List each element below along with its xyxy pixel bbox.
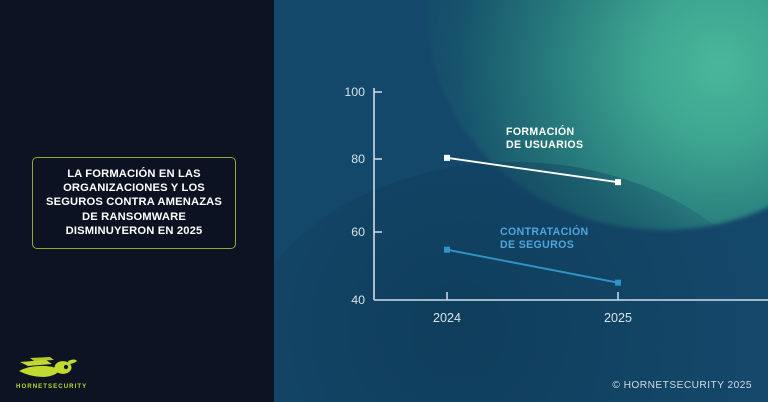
headline-callout-box: LA FORMACIÓN EN LAS ORGANIZACIONES Y LOS…	[32, 157, 236, 249]
copyright-notice: © HORNETSECURITY 2025	[612, 380, 752, 391]
y-axis-label-40: 40	[351, 293, 365, 307]
legend-label-contratacion-line1: CONTRATACIÓN	[500, 226, 589, 239]
infographic-canvas: LA FORMACIÓN EN LAS ORGANIZACIONES Y LOS…	[0, 0, 768, 402]
chart-svg: 100 80 60 40 2024 2025	[274, 0, 768, 402]
legend-label-contratacion: CONTRATACIÓN DE SEGUROS	[500, 226, 589, 252]
x-axis-label-2025: 2025	[604, 311, 632, 325]
series-contratacion-point-2024	[444, 247, 450, 253]
series-formacion-point-2024	[444, 155, 450, 161]
legend-label-formacion-line1: FORMACIÓN	[506, 126, 583, 139]
page-title: LA FORMACIÓN EN LAS ORGANIZACIONES Y LOS…	[41, 167, 227, 238]
legend-label-contratacion-line2: DE SEGUROS	[500, 239, 589, 252]
series-formacion-de-usuarios	[444, 155, 621, 185]
brand-wordmark: HORNETSECURITY	[16, 383, 96, 390]
brand-logo: HORNETSECURITY	[16, 355, 96, 390]
series-formacion-line	[447, 158, 618, 182]
series-contratacion-point-2025	[615, 280, 621, 286]
series-contratacion-de-seguros	[444, 247, 621, 286]
y-axis-label-100: 100	[344, 85, 365, 99]
y-axis-label-80: 80	[351, 152, 365, 166]
line-chart: 100 80 60 40 2024 2025	[274, 0, 768, 402]
chart-axes	[374, 88, 768, 300]
legend-label-formacion: FORMACIÓN DE USUARIOS	[506, 126, 583, 152]
y-axis-label-60: 60	[351, 225, 365, 239]
x-axis-label-2024: 2024	[433, 311, 461, 325]
series-formacion-point-2025	[615, 179, 621, 185]
legend-label-formacion-line2: DE USUARIOS	[506, 139, 583, 152]
series-contratacion-line	[447, 250, 618, 283]
right-panel: 100 80 60 40 2024 2025	[274, 0, 768, 402]
left-panel: LA FORMACIÓN EN LAS ORGANIZACIONES Y LOS…	[0, 0, 274, 402]
hornet-logo-icon	[16, 355, 78, 381]
